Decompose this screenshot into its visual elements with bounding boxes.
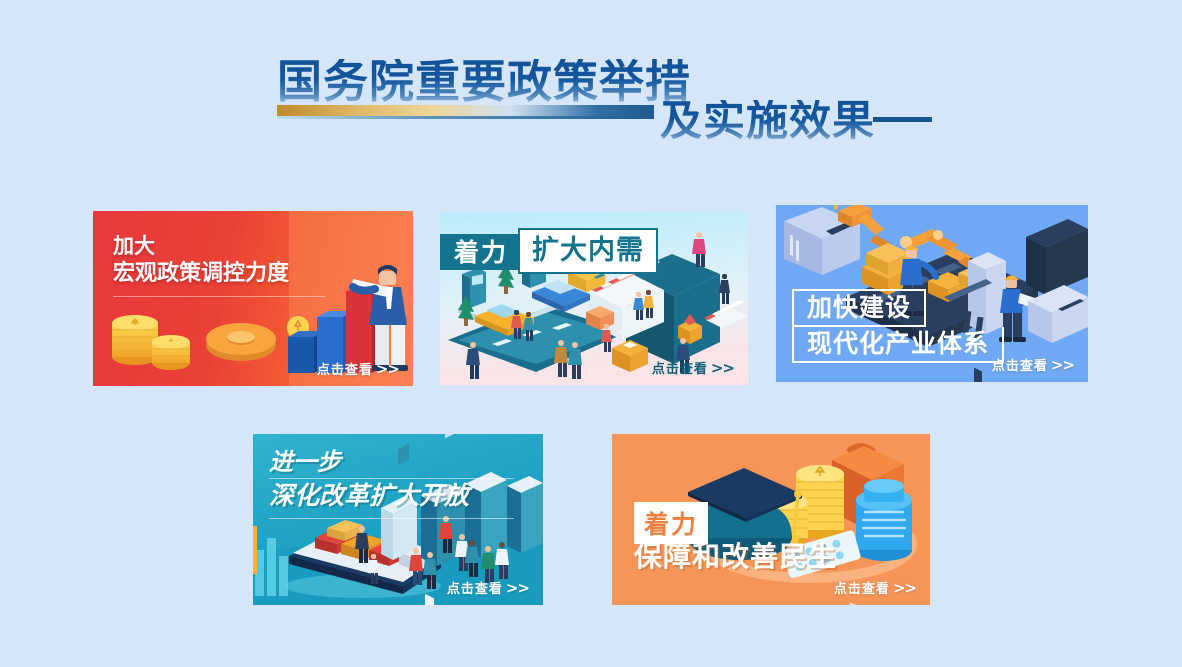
card1-cta-chevron-icon: >> [376, 360, 399, 378]
card1-title-underline [113, 296, 325, 297]
card5-title-line-1: 着力 [644, 511, 698, 539]
card2-title-panel: 扩大内需 [518, 228, 658, 274]
card1-cta-label: 点击查看 [317, 363, 373, 378]
policy-card-macro-policy[interactable]: 加大 宏观政策调控力度 点击查看>> [93, 211, 413, 386]
card5-title-badge: 着力 [634, 502, 708, 544]
page-root: 国务院重要政策举措 及实施效果 [0, 0, 1182, 667]
card1-title-line-1: 加大 [113, 235, 155, 258]
title-gradient-rule-thin [277, 116, 654, 119]
policy-card-domestic-demand[interactable]: 着力 扩大内需 点击查看>> [440, 212, 748, 385]
card5-cta-chevron-icon: >> [893, 579, 916, 597]
card2-cta[interactable]: 点击查看>> [652, 358, 734, 377]
card3-cta-label: 点击查看 [992, 359, 1048, 374]
card2-cta-chevron-icon: >> [711, 359, 734, 377]
policy-card-industrial-system[interactable]: 加快建设 现代化产业体系 点击查看>> [776, 205, 1088, 382]
card5-title-line-2: 保障和改善民生 [634, 542, 837, 572]
card3-cta-chevron-icon: >> [1051, 356, 1074, 374]
title-gradient-rule [277, 105, 654, 116]
card4-title-line-2: 深化改革扩大开放 [269, 482, 469, 509]
title-dash-decoration [873, 117, 932, 122]
card3-title-frame-2: 现代化产业体系 [792, 327, 1004, 363]
card3-cta[interactable]: 点击查看>> [992, 355, 1074, 374]
card4-cta-label: 点击查看 [447, 582, 503, 597]
policy-card-livelihood[interactable]: 着力 保障和改善民生 点击查看>> [612, 434, 930, 605]
card2-title-line-2: 扩大内需 [532, 236, 644, 265]
card4-title-underline-1 [269, 478, 514, 479]
policy-card-reform-opening[interactable]: 进一步 深化改革扩大开放 点击查看>> [253, 434, 543, 605]
page-header: 国务院重要政策举措 及实施效果 [0, 0, 1182, 170]
card2-title-line-1: 着力 [454, 239, 508, 266]
card3-title-line-1: 加快建设 [807, 293, 911, 322]
card4-cta-chevron-icon: >> [506, 579, 529, 597]
card4-title-underline-2 [269, 518, 514, 519]
card1-cta[interactable]: 点击查看>> [317, 359, 399, 378]
card4-cta[interactable]: 点击查看>> [447, 578, 529, 597]
card3-title-frame-1: 加快建设 [792, 289, 926, 327]
page-title-line-2: 及实施效果 [660, 100, 875, 142]
card3-title-line-2: 现代化产业体系 [807, 329, 989, 358]
card5-cta-label: 点击查看 [834, 582, 890, 597]
page-title-line-1: 国务院重要政策举措 [277, 59, 691, 104]
card2-title-badge: 着力 [440, 234, 518, 270]
card2-cta-label: 点击查看 [652, 362, 708, 377]
card4-title-line-1: 进一步 [269, 450, 341, 476]
card5-cta[interactable]: 点击查看>> [834, 578, 916, 597]
card1-title-line-2: 宏观政策调控力度 [113, 262, 289, 286]
